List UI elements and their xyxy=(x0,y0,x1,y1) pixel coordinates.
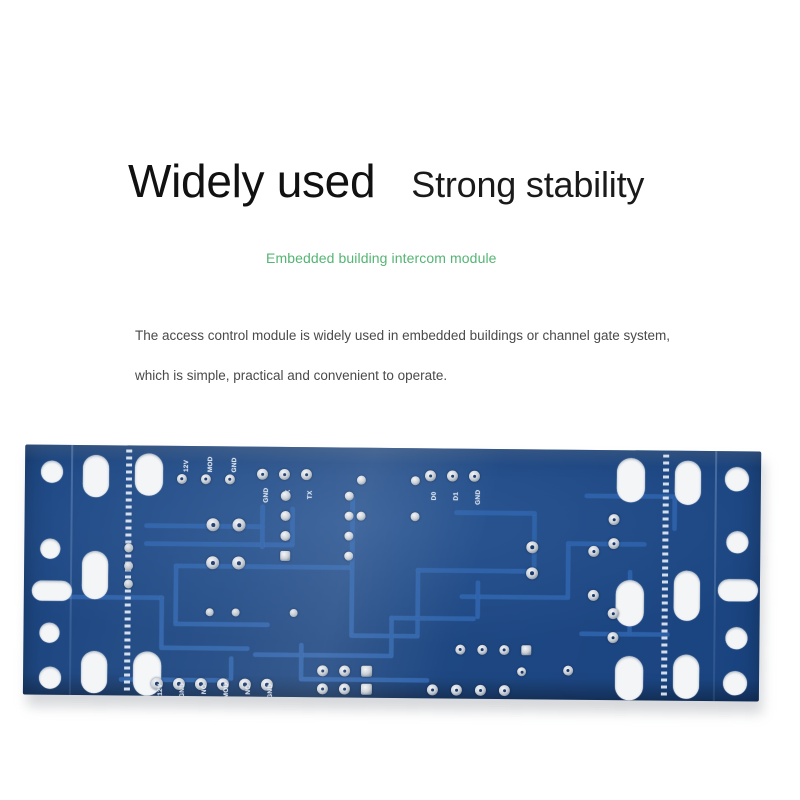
silkscreen-label-hdr-gnd2: GND xyxy=(267,684,274,699)
promo-page: Widely usedStrong stability Embedded bui… xyxy=(0,0,800,800)
trace xyxy=(299,677,429,682)
solder-pad xyxy=(526,567,538,579)
solder-pad xyxy=(608,538,619,549)
solder-pad xyxy=(124,579,133,588)
mounting-slot xyxy=(82,551,108,599)
trace xyxy=(174,564,179,624)
headline-primary: Widely used xyxy=(128,155,375,207)
solder-pad xyxy=(279,469,290,480)
solder-pad xyxy=(357,512,366,521)
silkscreen-label-d1: D1 xyxy=(453,492,460,501)
solder-pad xyxy=(232,518,245,531)
silkscreen-label-12v: 12V xyxy=(183,460,190,472)
trace xyxy=(455,511,537,516)
solder-pad xyxy=(290,609,298,617)
mounting-slot xyxy=(718,579,758,601)
solder-pad xyxy=(124,543,133,552)
mounting-hole xyxy=(725,467,749,491)
mounting-slot xyxy=(32,581,72,601)
solder-pad xyxy=(206,608,214,616)
solder-pad xyxy=(339,683,350,694)
solder-pad xyxy=(280,531,290,541)
solder-pad xyxy=(608,608,619,619)
solder-pad xyxy=(427,684,438,695)
solder-pad xyxy=(475,685,486,696)
silkscreen-label-uart-tx: TX xyxy=(307,490,314,499)
solder-pad xyxy=(477,645,487,655)
trace xyxy=(260,505,264,549)
solder-pad xyxy=(361,684,372,695)
silkscreen-label-mod: MOD xyxy=(207,456,214,472)
mounting-slot xyxy=(673,655,699,699)
solder-pad xyxy=(499,645,509,655)
trace xyxy=(159,646,249,651)
mounting-slot xyxy=(674,571,700,621)
trace xyxy=(566,542,571,598)
solder-pad xyxy=(517,667,526,676)
solder-pad xyxy=(317,683,328,694)
silkscreen-label-uart-gnd: GND xyxy=(263,488,270,503)
solder-pad xyxy=(588,590,599,601)
solder-pad xyxy=(232,556,245,569)
trace xyxy=(64,595,164,600)
board-substrate: 12V MOD GND GND RX TX D0 D1 GND xyxy=(23,444,761,701)
mounting-hole xyxy=(41,461,63,483)
solder-pad xyxy=(447,471,458,482)
solder-pad xyxy=(455,645,465,655)
solder-pad xyxy=(206,518,219,531)
mounting-hole xyxy=(39,623,59,643)
product-tagline: Embedded building intercom module xyxy=(266,250,497,266)
silkscreen-label-hdr-12v: 12V xyxy=(157,684,164,696)
solder-pad xyxy=(257,469,268,480)
solder-pad xyxy=(281,491,291,501)
trace xyxy=(144,524,264,529)
silkscreen-label-hdr-gnd: GND xyxy=(179,683,186,698)
silkscreen-label-hdr-nc: NC xyxy=(201,684,208,694)
mounting-slot xyxy=(615,656,643,700)
trace xyxy=(389,616,393,656)
trace xyxy=(390,616,476,621)
solder-pad xyxy=(361,666,372,677)
mounting-slot xyxy=(135,454,163,496)
solder-pad xyxy=(339,665,350,676)
trace xyxy=(672,495,676,531)
mounting-hole xyxy=(39,667,61,689)
trace xyxy=(159,596,163,648)
solder-pad xyxy=(411,476,420,485)
solder-pad xyxy=(317,665,328,676)
solder-pad xyxy=(469,471,480,482)
trace xyxy=(253,653,393,658)
mounting-slot xyxy=(617,458,645,502)
trace xyxy=(415,568,420,636)
solder-pad xyxy=(225,474,235,484)
pcb-board: 12V MOD GND GND RX TX D0 D1 GND xyxy=(23,444,765,713)
solder-pad xyxy=(301,469,312,480)
solder-pad xyxy=(206,556,219,569)
body-copy: The access control module is widely used… xyxy=(135,316,735,396)
solder-pad xyxy=(563,666,573,676)
solder-pad xyxy=(201,474,211,484)
trace xyxy=(416,568,536,573)
solder-pad xyxy=(526,541,538,553)
solder-pad xyxy=(425,470,436,481)
silkscreen-label-hdr-nc2: NC xyxy=(245,685,252,695)
trace xyxy=(299,643,303,679)
solder-pad xyxy=(451,685,462,696)
solder-pad xyxy=(232,608,240,616)
trace xyxy=(579,632,669,637)
solder-pad xyxy=(588,546,599,557)
solder-pad xyxy=(607,632,618,643)
solder-pad xyxy=(345,492,354,501)
trace xyxy=(144,542,294,547)
silkscreen-label-gnd: GND xyxy=(231,457,238,472)
trace xyxy=(229,656,233,680)
mounting-hole xyxy=(723,671,747,695)
trace xyxy=(174,622,270,627)
mounting-slot xyxy=(675,461,701,505)
mounting-slot xyxy=(616,580,644,626)
trace xyxy=(349,634,419,639)
solder-pad xyxy=(177,474,187,484)
mounting-hole xyxy=(726,531,748,553)
silkscreen-label-d0: D0 xyxy=(431,492,438,501)
headline: Widely usedStrong stability xyxy=(128,158,644,204)
trace xyxy=(290,507,294,545)
solder-pad xyxy=(357,476,366,485)
body-copy-line-2: which is simple, practical and convenien… xyxy=(135,356,735,396)
solder-pad xyxy=(345,512,354,521)
solder-pad xyxy=(499,685,510,696)
solder-pad xyxy=(411,512,420,521)
trace xyxy=(174,564,354,570)
mounting-hole xyxy=(40,539,60,559)
body-copy-line-1: The access control module is widely used… xyxy=(135,316,735,356)
solder-pad xyxy=(281,511,291,521)
trace xyxy=(566,542,646,547)
headline-secondary: Strong stability xyxy=(411,164,644,205)
silkscreen-label-hdr-mod: MOD xyxy=(223,683,230,699)
mounting-slot xyxy=(81,651,107,693)
mounting-hole xyxy=(725,627,747,649)
solder-pad xyxy=(609,514,620,525)
solder-pad xyxy=(344,552,353,561)
silkscreen-label-wiegand-gnd: GND xyxy=(475,490,482,505)
solder-pad xyxy=(280,551,290,561)
solder-pad xyxy=(521,645,531,655)
mounting-slot xyxy=(83,455,109,497)
solder-pad xyxy=(124,561,133,570)
trace xyxy=(476,581,480,619)
product-photo: 12V MOD GND GND RX TX D0 D1 GND xyxy=(0,430,800,740)
solder-pad xyxy=(344,532,353,541)
